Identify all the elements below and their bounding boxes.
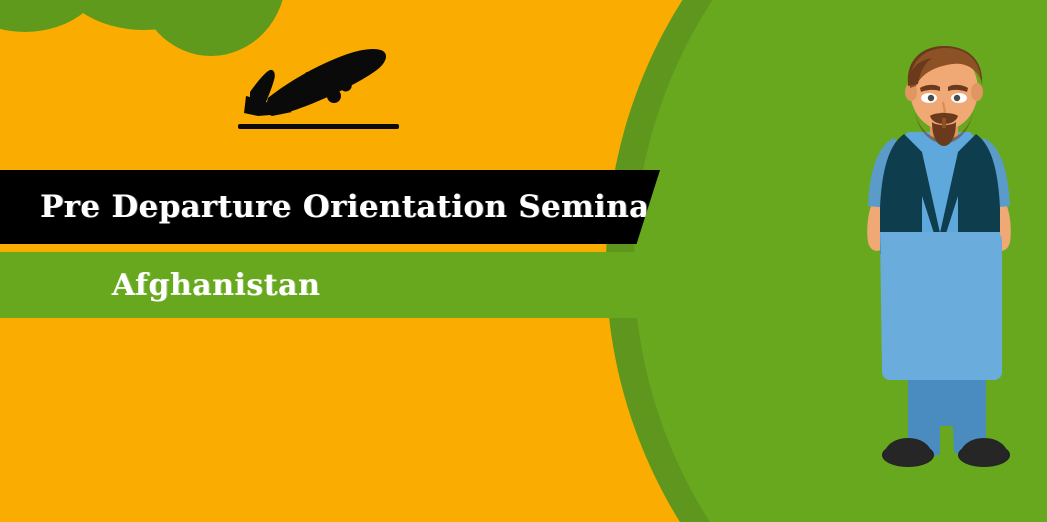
- subtitle-country: Afghanistan: [112, 268, 581, 303]
- afghan-man-illustration: [846, 46, 1046, 522]
- subtitle-band: Afghanistan: [0, 252, 702, 318]
- poster-canvas: Pre Departure Orientation Seminar Afghan…: [0, 0, 1047, 522]
- runway-line: [238, 124, 399, 129]
- title-band: Pre Departure Orientation Seminar: [0, 170, 660, 244]
- airplane-takeoff-icon: [236, 44, 406, 136]
- page-title: Pre Departure Orientation Seminar: [0, 189, 666, 225]
